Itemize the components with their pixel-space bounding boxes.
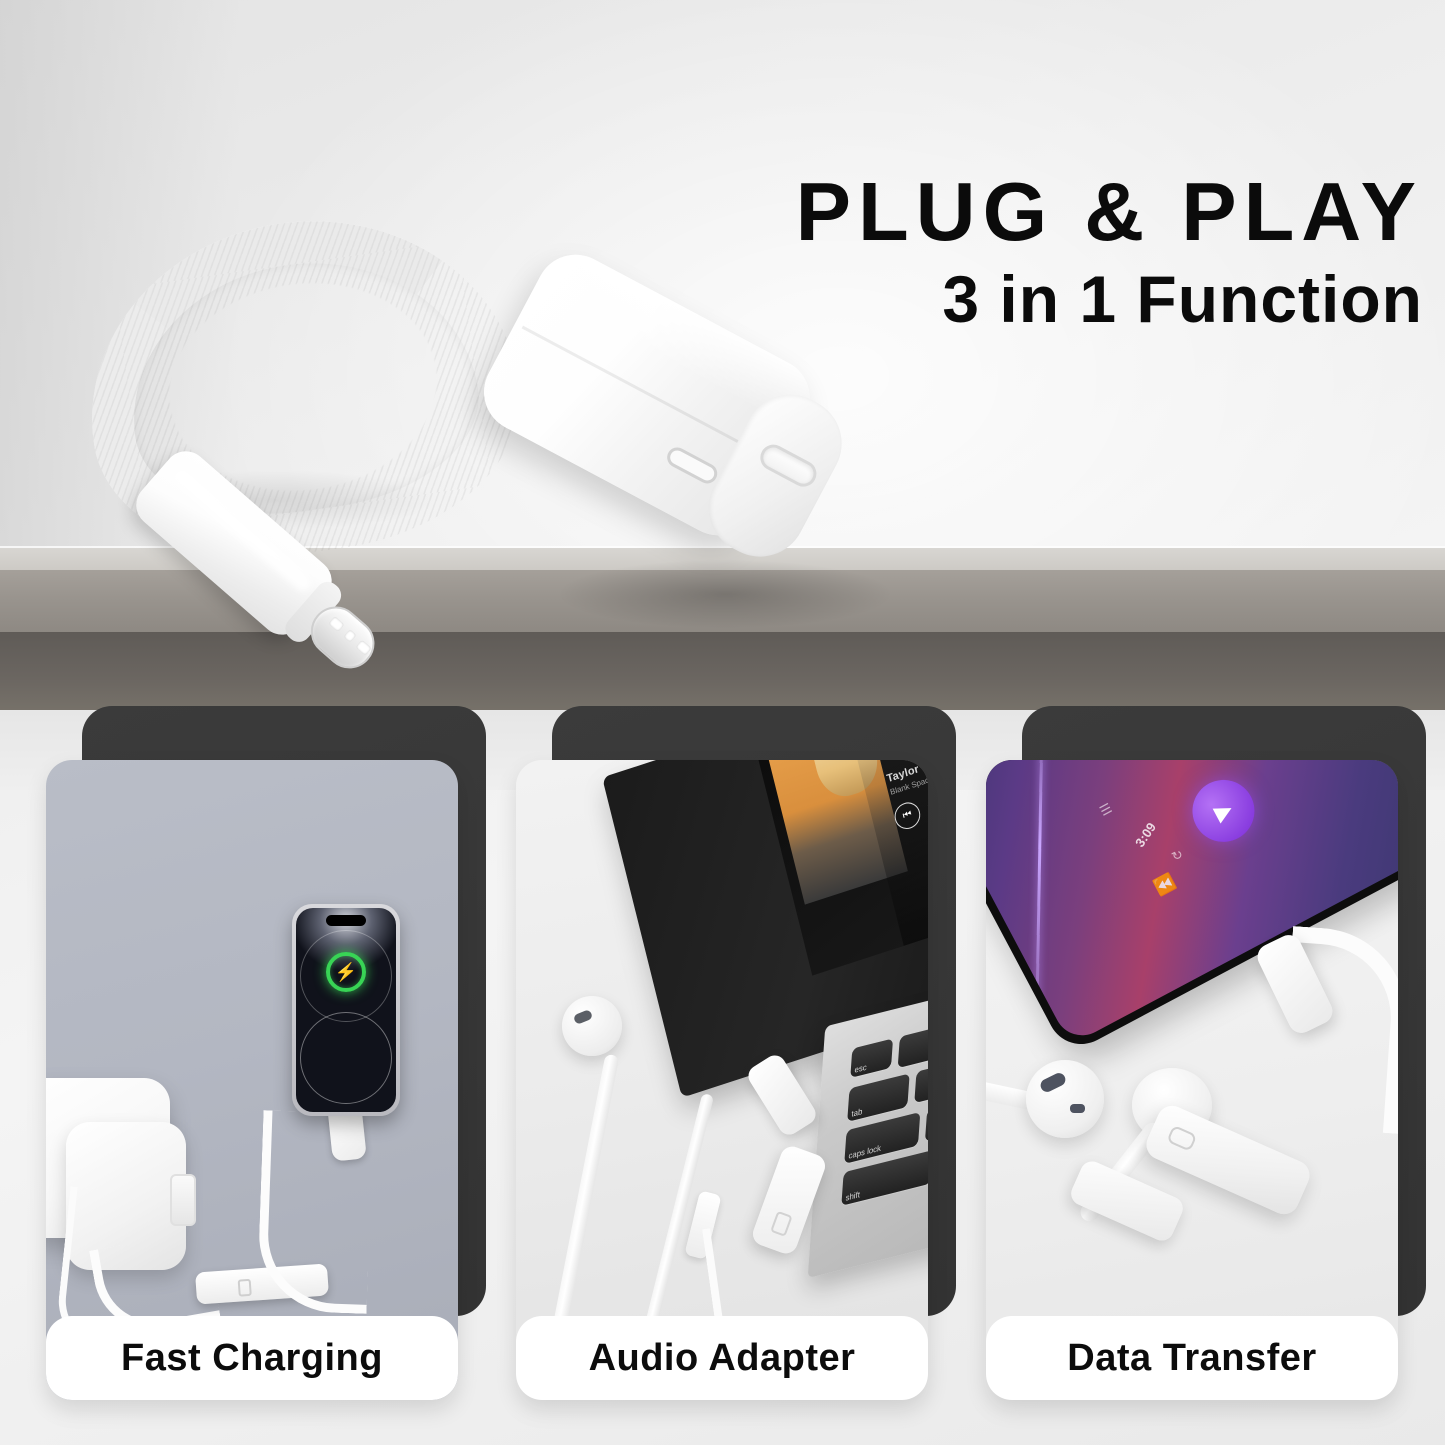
scene-fast-charging: [46, 760, 458, 1400]
rewind-icon[interactable]: ⏪: [1151, 872, 1178, 897]
panel-image-frame: Fast Charging: [46, 760, 458, 1400]
panel-caption-bar: Audio Adapter: [516, 1316, 928, 1400]
feature-panel-audio-adapter: Taylor Swift Blank Space ⏮ ❙❙ ⏭: [516, 700, 946, 1400]
panel-image-frame: Taylor Swift Blank Space ⏮ ❙❙ ⏭: [516, 760, 928, 1400]
panel-caption-label: Fast Charging: [121, 1337, 383, 1380]
lightning-adapter-body: [470, 241, 824, 550]
playlist-icon[interactable]: ☰: [1098, 801, 1114, 818]
iphone-screen: [296, 908, 396, 1112]
hero-product-photo: [0, 0, 1000, 760]
feature-panel-fast-charging: Fast Charging: [46, 700, 476, 1400]
iphone-device: [292, 904, 400, 1116]
dynamic-island: [326, 915, 366, 926]
key-letter[interactable]: [925, 1102, 928, 1142]
panel-image-frame: ▶ ⏩ ⏪ ⎞ ☐ 🔇 ☰ ↻ 3:09: [986, 760, 1398, 1400]
adapter-shadow: [560, 560, 890, 628]
key-function[interactable]: [898, 1028, 928, 1068]
key-letter[interactable]: [914, 1063, 928, 1103]
feature-panels: Fast Charging Taylor Swift Blank Space: [0, 700, 1445, 1445]
scene-data-transfer: ▶ ⏩ ⏪ ⎞ ☐ 🔇 ☰ ↻ 3:09: [986, 760, 1398, 1400]
play-button[interactable]: ▶: [1182, 769, 1266, 853]
charging-ring-indicator: [326, 952, 366, 992]
progress-line: [1034, 760, 1044, 1045]
panel-caption-bar: Data Transfer: [986, 1316, 1398, 1400]
key-tab[interactable]: tab: [847, 1073, 910, 1122]
earbud: [562, 996, 622, 1056]
braided-cable-texture: [67, 194, 539, 581]
product-marketing-image: PLUG & PLAY 3 in 1 Function: [0, 0, 1445, 1445]
wallpaper-arc: [300, 1012, 392, 1104]
earbud: [1026, 1060, 1104, 1138]
feature-panel-data-transfer: ▶ ⏩ ⏪ ⎞ ☐ 🔇 ☰ ↻ 3:09: [986, 700, 1416, 1400]
panel-caption-label: Audio Adapter: [589, 1337, 856, 1380]
timer-icon[interactable]: ↻: [1169, 847, 1185, 864]
scene-audio-adapter: Taylor Swift Blank Space ⏮ ❙❙ ⏭: [516, 760, 928, 1400]
track-time-label: 3:09: [1132, 820, 1159, 850]
panel-caption-bar: Fast Charging: [46, 1316, 458, 1400]
usb-c-plug-into-laptop: [744, 1051, 819, 1138]
laptop-keyboard: esc tab caps lock: [841, 1018, 928, 1215]
key-esc[interactable]: esc: [850, 1038, 893, 1078]
panel-caption-label: Data Transfer: [1067, 1337, 1316, 1380]
laptop-screen: Taylor Swift Blank Space ⏮ ❙❙ ⏭: [754, 760, 928, 976]
